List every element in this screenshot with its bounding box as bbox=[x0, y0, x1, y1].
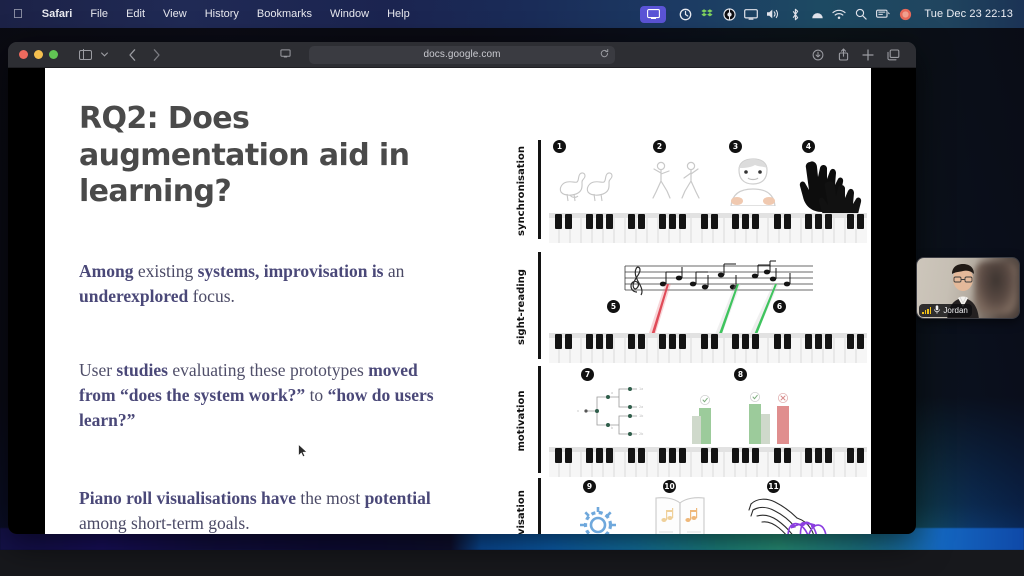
menu-item-edit[interactable]: Edit bbox=[117, 0, 154, 28]
chevron-down-icon[interactable] bbox=[98, 46, 111, 64]
svg-text:x: x bbox=[577, 409, 579, 413]
macos-menu-bar:  Safari File Edit View History Bookmark… bbox=[0, 0, 1024, 28]
step-badge-4: 4 bbox=[802, 140, 815, 153]
browser-toolbar: docs.google.com bbox=[8, 42, 916, 68]
diagram-row-synchronisation: synchronisation 1 2 3 4 bbox=[515, 138, 867, 243]
microphone-icon bbox=[934, 305, 940, 316]
minimize-button[interactable] bbox=[34, 50, 43, 59]
menu-bar-status-icons: Tue Dec 23 22:13 bbox=[640, 0, 1024, 28]
svg-text:2a: 2a bbox=[639, 405, 643, 409]
row-label-rule-1 bbox=[538, 140, 541, 239]
row-panel-2: 5 6 bbox=[549, 250, 867, 363]
toolbar-right-group bbox=[807, 46, 916, 64]
video-call-participant-tile[interactable]: Jordan bbox=[916, 257, 1020, 319]
step-badge-3: 3 bbox=[729, 140, 742, 153]
row-label-sight-reading: sight-reading bbox=[516, 269, 527, 345]
window-controls bbox=[8, 50, 58, 59]
bluetooth-icon[interactable] bbox=[785, 0, 805, 28]
menu-bar-clock[interactable]: Tue Dec 23 22:13 bbox=[917, 8, 1016, 20]
menu-item-help[interactable]: Help bbox=[378, 0, 419, 28]
step-badge-2: 2 bbox=[653, 140, 666, 153]
participant-name-badge: Jordan bbox=[919, 304, 972, 317]
slide-paragraph-2: User studies evaluating these prototypes… bbox=[79, 358, 447, 434]
row-label-wrap-2: sight-reading bbox=[515, 250, 549, 363]
downloads-icon[interactable] bbox=[807, 46, 829, 64]
step-badge-10: 10 bbox=[663, 480, 676, 493]
menu-item-window[interactable]: Window bbox=[321, 0, 378, 28]
search-icon[interactable] bbox=[851, 0, 871, 28]
signal-strength-icon bbox=[922, 307, 931, 314]
svg-text:1b: 1b bbox=[639, 414, 643, 418]
row-label-wrap-1: synchronisation bbox=[515, 138, 549, 243]
safari-window: docs.google.com bbox=[8, 42, 916, 534]
menu-bar-items:  Safari File Edit View History Bookmark… bbox=[0, 0, 419, 28]
row-label-synchronisation: synchronisation bbox=[516, 146, 527, 236]
step-badge-9: 9 bbox=[583, 480, 596, 493]
sidebar-icon[interactable] bbox=[74, 46, 96, 64]
row-label-rule-3 bbox=[538, 366, 541, 473]
volume-icon[interactable] bbox=[763, 0, 783, 28]
row-panel-1: 1 2 3 4 bbox=[549, 138, 867, 243]
step-badge-5: 5 bbox=[607, 300, 620, 313]
participant-name: Jordan bbox=[943, 306, 967, 315]
person-playing-icon bbox=[723, 156, 783, 206]
privacy-report-icon[interactable] bbox=[280, 48, 291, 62]
menu-item-bookmarks[interactable]: Bookmarks bbox=[248, 0, 321, 28]
svg-text:2b: 2b bbox=[639, 432, 643, 436]
row-label-rule-2 bbox=[538, 252, 541, 359]
svg-text:b: b bbox=[611, 426, 613, 430]
presentation-viewport[interactable]: RQ2: Does augmentation aid in learning? … bbox=[8, 68, 916, 534]
open-book-icon bbox=[649, 494, 711, 534]
piano-keyboard-3 bbox=[549, 443, 867, 477]
slide-paragraph-3: Piano roll visualisations have the most … bbox=[79, 486, 447, 534]
timemachine-icon[interactable] bbox=[675, 0, 695, 28]
wallpaper-base bbox=[0, 550, 1024, 576]
step-badge-1: 1 bbox=[553, 140, 566, 153]
vpn-icon[interactable] bbox=[807, 0, 827, 28]
forward-arrow-icon[interactable] bbox=[145, 46, 167, 64]
menu-item-safari[interactable]: Safari bbox=[33, 0, 82, 28]
diagram-row-motivation: motivation 7 8 bbox=[515, 364, 867, 477]
page-title: RQ2: Does augmentation aid in learning? bbox=[79, 101, 469, 211]
gear-icon bbox=[577, 504, 619, 534]
screen-share-icon[interactable] bbox=[640, 6, 666, 23]
ring-icon[interactable] bbox=[719, 0, 739, 28]
row-label-motivation: motivation bbox=[516, 390, 527, 451]
share-icon[interactable] bbox=[832, 46, 854, 64]
wifi-icon[interactable] bbox=[829, 0, 849, 28]
dancing-figures-icon bbox=[647, 160, 707, 204]
menu-item-history[interactable]: History bbox=[196, 0, 248, 28]
piano-keyboard-2 bbox=[549, 329, 867, 363]
svg-text:a: a bbox=[611, 391, 613, 395]
slide-paragraph-1: Among existing systems, improvisation is… bbox=[79, 259, 447, 310]
menu-item-view[interactable]: View bbox=[154, 0, 196, 28]
zoom-button[interactable] bbox=[49, 50, 58, 59]
apple-icon[interactable]:  bbox=[9, 0, 33, 28]
google-slides-slide[interactable]: RQ2: Does augmentation aid in learning? … bbox=[45, 68, 871, 534]
row-label-rule-4 bbox=[538, 478, 541, 534]
control-center-icon[interactable] bbox=[873, 0, 893, 28]
reload-icon[interactable] bbox=[600, 49, 609, 60]
new-tab-icon[interactable] bbox=[857, 46, 879, 64]
diagram-row-sight-reading: sight-reading bbox=[515, 250, 867, 363]
display-icon[interactable] bbox=[741, 0, 761, 28]
address-bar-url: docs.google.com bbox=[423, 49, 500, 60]
swans-icon bbox=[555, 162, 617, 202]
address-bar[interactable]: docs.google.com bbox=[309, 46, 615, 64]
diagram-row-improvisation: improvisation 9 10 11 bbox=[515, 476, 867, 534]
toolbar-nav-group bbox=[74, 46, 167, 64]
svg-text:1a: 1a bbox=[639, 387, 643, 391]
dropbox-icon[interactable] bbox=[697, 0, 717, 28]
row-label-wrap-3: motivation bbox=[515, 364, 549, 477]
tab-overview-icon[interactable] bbox=[882, 46, 904, 64]
row-panel-3: 7 8 bbox=[549, 364, 867, 477]
step-badge-8: 8 bbox=[734, 368, 747, 381]
row-label-wrap-4: improvisation bbox=[515, 476, 549, 534]
score-bars-icon bbox=[687, 392, 805, 444]
piano-keyboard-1 bbox=[549, 209, 867, 243]
siri-icon[interactable] bbox=[895, 0, 915, 28]
row-label-improvisation: improvisation bbox=[516, 490, 527, 534]
decision-tree-icon: xab 1a2a1b2b bbox=[575, 380, 663, 442]
row-panel-4: 9 10 11 bbox=[549, 476, 867, 534]
desktop-screen:  Safari File Edit View History Bookmark… bbox=[0, 0, 1024, 576]
slide-text-column: RQ2: Does augmentation aid in learning? … bbox=[79, 101, 499, 534]
menu-item-file[interactable]: File bbox=[81, 0, 117, 28]
hand-improvising-icon bbox=[747, 490, 843, 534]
close-button[interactable] bbox=[19, 50, 28, 59]
back-arrow-icon[interactable] bbox=[121, 46, 143, 64]
